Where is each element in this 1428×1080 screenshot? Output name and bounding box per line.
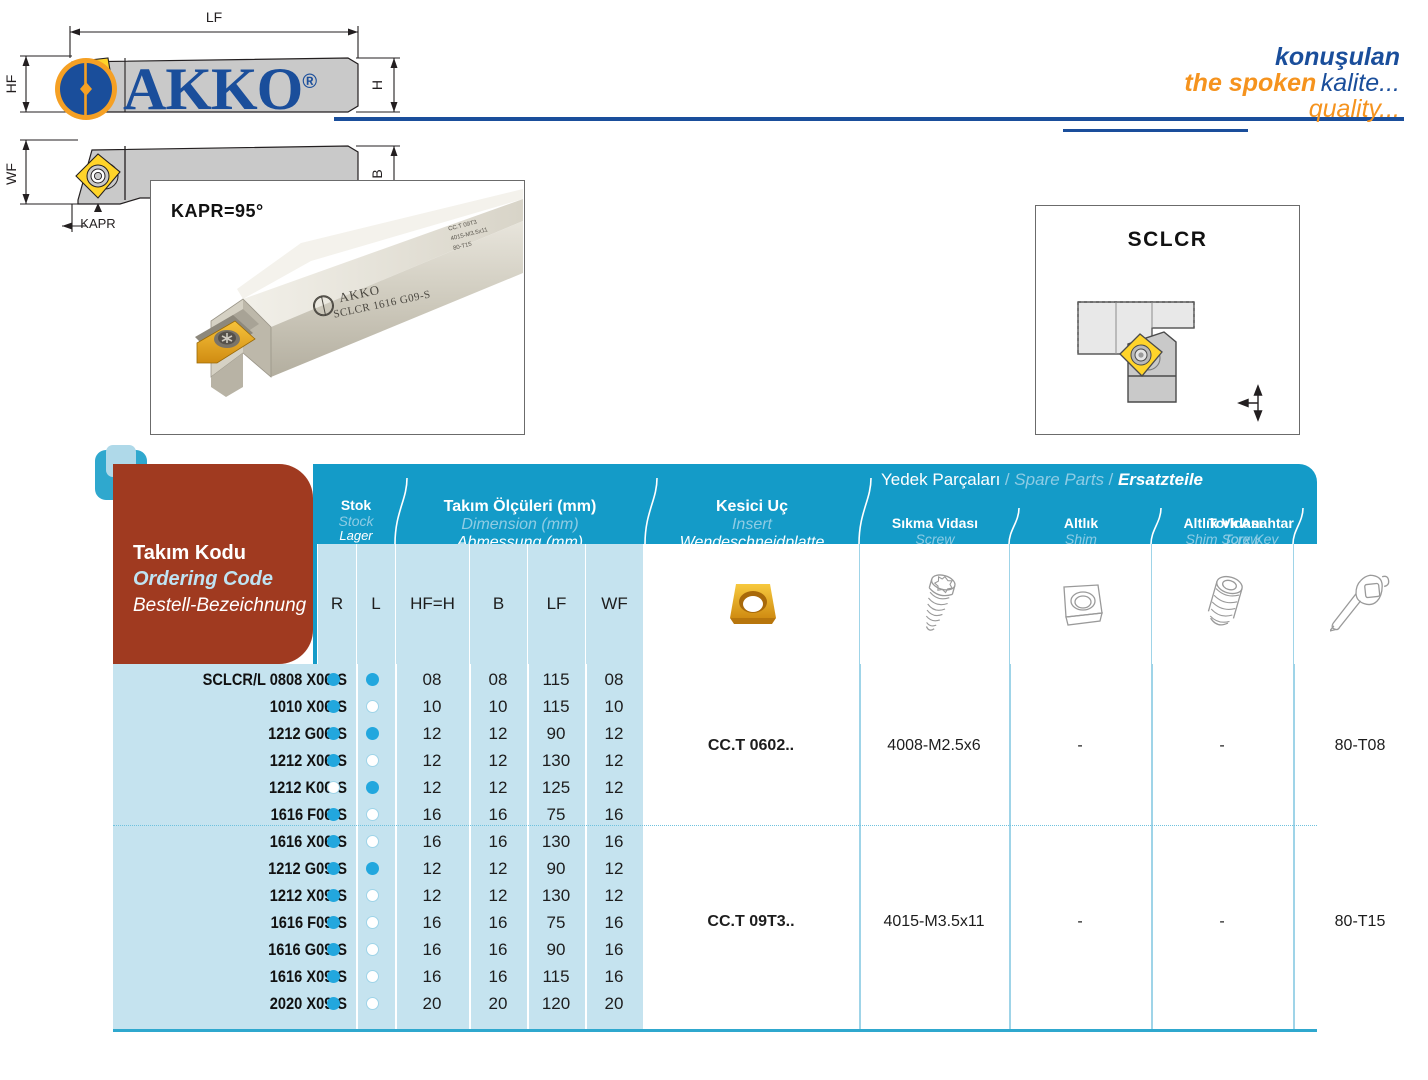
row-ordering-code: 1616 X09-S bbox=[132, 963, 347, 990]
cell-hf: 12 bbox=[395, 774, 469, 801]
icon-cell-torx-key bbox=[1293, 544, 1427, 664]
cell-wf: 16 bbox=[585, 801, 643, 828]
cell-hf: 16 bbox=[395, 828, 469, 855]
cell-lf: 120 bbox=[527, 990, 585, 1017]
akko-logo-icon bbox=[55, 58, 117, 120]
merged-cell-torx-key: 80-T15 bbox=[1293, 913, 1427, 931]
cell-wf: 12 bbox=[585, 747, 643, 774]
kapr-angle-label: KAPR=95° bbox=[171, 201, 264, 222]
subheader-r: R bbox=[317, 544, 356, 664]
cell-wf: 16 bbox=[585, 828, 643, 855]
stock-dot-r bbox=[327, 835, 340, 848]
row-ordering-code: 1212 X09-S bbox=[132, 882, 347, 909]
cell-hf: 10 bbox=[395, 693, 469, 720]
product-table: Yedek Parçaları / Spare Parts / Ersatzte… bbox=[95, 450, 1335, 1030]
tagline-line3: quality... bbox=[1184, 96, 1400, 122]
cell-wf: 16 bbox=[585, 936, 643, 963]
icon-cell-shim bbox=[1009, 544, 1151, 664]
cell-wf: 12 bbox=[585, 882, 643, 909]
cell-b: 12 bbox=[469, 882, 527, 909]
row-ordering-code: SCLCR/L 0808 X06-S bbox=[132, 666, 347, 693]
stock-dot-r bbox=[327, 808, 340, 821]
stock-dot-r bbox=[327, 700, 340, 713]
subheader-lf: LF bbox=[527, 544, 585, 664]
cell-b: 20 bbox=[469, 990, 527, 1017]
insert-icon bbox=[720, 578, 782, 630]
row-ordering-code: 1616 F09-S bbox=[132, 909, 347, 936]
cell-b: 16 bbox=[469, 936, 527, 963]
stock-dot-r bbox=[327, 970, 340, 983]
cell-lf: 125 bbox=[527, 774, 585, 801]
merged-cell-insert: CC.T 09T3.. bbox=[643, 913, 859, 931]
table-row: 1212 K06-S121212512 bbox=[95, 774, 1335, 801]
ordering-code-en: Ordering Code bbox=[133, 568, 273, 591]
product-photo-panel: KAPR=95° bbox=[150, 180, 525, 435]
table-row: 1212 X09-S121213012 bbox=[95, 882, 1335, 909]
stock-dot-r bbox=[327, 727, 340, 740]
stock-dot-r bbox=[327, 916, 340, 929]
row-ordering-code: 1010 X06-S bbox=[132, 693, 347, 720]
stock-dot-l bbox=[366, 727, 379, 740]
stock-dot-l bbox=[366, 781, 379, 794]
table-row: 2020 X09-S202012020 bbox=[95, 990, 1335, 1017]
cell-hf: 16 bbox=[395, 936, 469, 963]
cell-hf: 08 bbox=[395, 666, 469, 693]
torx-key-icon bbox=[1330, 568, 1392, 640]
stock-dot-r bbox=[327, 997, 340, 1010]
cell-hf: 12 bbox=[395, 882, 469, 909]
merged-cell-shim-screw: - bbox=[1151, 737, 1293, 755]
cell-b: 10 bbox=[469, 693, 527, 720]
icon-cell-shim-screw bbox=[1151, 544, 1293, 664]
shim-screw-icon bbox=[1201, 571, 1245, 637]
cell-wf: 16 bbox=[585, 909, 643, 936]
cell-lf: 115 bbox=[527, 963, 585, 990]
application-diagram-panel: SCLCR bbox=[1035, 205, 1300, 435]
cell-b: 16 bbox=[469, 963, 527, 990]
dim-wf-label: WF bbox=[3, 163, 19, 185]
row-ordering-code: 1616 G09-S bbox=[132, 936, 347, 963]
merged-cell-shim-screw: - bbox=[1151, 913, 1293, 931]
feed-direction-icon bbox=[1239, 386, 1262, 420]
row-ordering-code: 1212 G09-S bbox=[132, 855, 347, 882]
cell-hf: 16 bbox=[395, 963, 469, 990]
cell-lf: 75 bbox=[527, 801, 585, 828]
subheader-b: B bbox=[469, 544, 527, 664]
table-bottom-border bbox=[113, 1029, 1317, 1032]
table-row: SCLCR/L 0808 X06-S080811508 bbox=[95, 666, 1335, 693]
table-row: 1616 G09-S16169016 bbox=[95, 936, 1335, 963]
cell-b: 16 bbox=[469, 828, 527, 855]
stock-dot-l bbox=[366, 916, 379, 929]
cell-lf: 130 bbox=[527, 828, 585, 855]
cell-hf: 16 bbox=[395, 801, 469, 828]
screw-icon bbox=[913, 568, 957, 640]
row-ordering-code: 2020 X09-S bbox=[132, 990, 347, 1017]
cell-wf: 10 bbox=[585, 693, 643, 720]
cell-hf: 12 bbox=[395, 855, 469, 882]
cell-b: 08 bbox=[469, 666, 527, 693]
table-row: 1010 X06-S101011510 bbox=[95, 693, 1335, 720]
cell-lf: 130 bbox=[527, 747, 585, 774]
tagline-rule bbox=[1063, 129, 1248, 132]
stock-dot-r bbox=[327, 673, 340, 686]
stock-dot-l bbox=[366, 970, 379, 983]
cell-lf: 130 bbox=[527, 882, 585, 909]
stock-dot-l bbox=[366, 835, 379, 848]
stock-dot-l bbox=[366, 808, 379, 821]
table-row: 1616 X09-S161611516 bbox=[95, 963, 1335, 990]
cell-b: 12 bbox=[469, 774, 527, 801]
dim-kapr-label: KAPR bbox=[80, 216, 115, 231]
stock-dot-l bbox=[366, 889, 379, 902]
page-header: AKKO® konuşulan the spoken kalite... qua… bbox=[0, 0, 1428, 155]
merged-cell-shim: - bbox=[1009, 737, 1151, 755]
cell-lf: 90 bbox=[527, 936, 585, 963]
shim-icon bbox=[1054, 579, 1108, 629]
cell-lf: 75 bbox=[527, 909, 585, 936]
cell-b: 16 bbox=[469, 801, 527, 828]
row-ordering-code: 1212 K06-S bbox=[132, 774, 347, 801]
stock-dot-r bbox=[327, 754, 340, 767]
stock-dot-r bbox=[327, 862, 340, 875]
cell-hf: 12 bbox=[395, 747, 469, 774]
subheader-hf: HF=H bbox=[395, 544, 469, 664]
brand-name: AKKO bbox=[123, 56, 302, 122]
table-row: 1212 G09-S12129012 bbox=[95, 855, 1335, 882]
row-ordering-code: 1212 X06-S bbox=[132, 747, 347, 774]
merged-cell-screw: 4015-M3.5x11 bbox=[859, 913, 1009, 931]
row-ordering-code: 1616 F06-S bbox=[132, 801, 347, 828]
cell-b: 12 bbox=[469, 747, 527, 774]
tagline-line1: konuşulan bbox=[1184, 44, 1400, 70]
tagline-line2-blue: kalite... bbox=[1321, 69, 1400, 97]
stock-dot-r bbox=[327, 781, 340, 794]
stock-dot-r bbox=[327, 943, 340, 956]
cell-hf: 16 bbox=[395, 909, 469, 936]
ordering-code-tr: Takım Kodu bbox=[133, 542, 246, 565]
stock-dot-r bbox=[327, 889, 340, 902]
stock-dot-l bbox=[366, 673, 379, 686]
sclcr-title: SCLCR bbox=[1036, 228, 1299, 252]
cell-wf: 16 bbox=[585, 963, 643, 990]
merged-cell-torx-key: 80-T08 bbox=[1293, 737, 1427, 755]
table-row: 1616 F06-S16167516 bbox=[95, 801, 1335, 828]
tagline: konuşulan the spoken kalite... quality..… bbox=[1184, 44, 1400, 122]
cell-lf: 90 bbox=[527, 855, 585, 882]
stock-dot-l bbox=[366, 862, 379, 875]
ordering-code-header: Takım Kodu Ordering Code Bestell-Bezeich… bbox=[113, 464, 313, 664]
stock-dot-l bbox=[366, 700, 379, 713]
icon-cell-screw bbox=[859, 544, 1009, 664]
group-separator bbox=[113, 825, 1317, 826]
cell-b: 12 bbox=[469, 855, 527, 882]
registered-mark: ® bbox=[302, 71, 316, 93]
ordering-code-de: Bestell-Bezeichnung bbox=[133, 595, 306, 617]
dim-b-label: B bbox=[369, 169, 385, 178]
merged-cell-screw: 4008-M2.5x6 bbox=[859, 737, 1009, 755]
cell-lf: 90 bbox=[527, 720, 585, 747]
cell-wf: 08 bbox=[585, 666, 643, 693]
cell-wf: 12 bbox=[585, 720, 643, 747]
tagline-line2-orange: the spoken bbox=[1184, 69, 1316, 97]
cell-hf: 20 bbox=[395, 990, 469, 1017]
cell-wf: 12 bbox=[585, 855, 643, 882]
stock-dot-l bbox=[366, 997, 379, 1010]
icon-cell-insert bbox=[643, 544, 859, 664]
stock-dot-l bbox=[366, 754, 379, 767]
stock-dot-l bbox=[366, 943, 379, 956]
merged-cell-shim: - bbox=[1009, 913, 1151, 931]
row-ordering-code: 1616 X06-S bbox=[132, 828, 347, 855]
cell-b: 12 bbox=[469, 720, 527, 747]
subheader-wf: WF bbox=[585, 544, 643, 664]
brand-logo: AKKO® bbox=[55, 58, 316, 120]
brand-wordmark: AKKO® bbox=[123, 59, 316, 119]
row-ordering-code: 1212 G06-S bbox=[132, 720, 347, 747]
table-row: 1616 X06-S161613016 bbox=[95, 828, 1335, 855]
cell-wf: 12 bbox=[585, 774, 643, 801]
cell-lf: 115 bbox=[527, 693, 585, 720]
cell-hf: 12 bbox=[395, 720, 469, 747]
subheader-l: L bbox=[356, 544, 395, 664]
cell-lf: 115 bbox=[527, 666, 585, 693]
cell-b: 16 bbox=[469, 909, 527, 936]
cell-wf: 20 bbox=[585, 990, 643, 1017]
merged-cell-insert: CC.T 0602.. bbox=[643, 737, 859, 755]
